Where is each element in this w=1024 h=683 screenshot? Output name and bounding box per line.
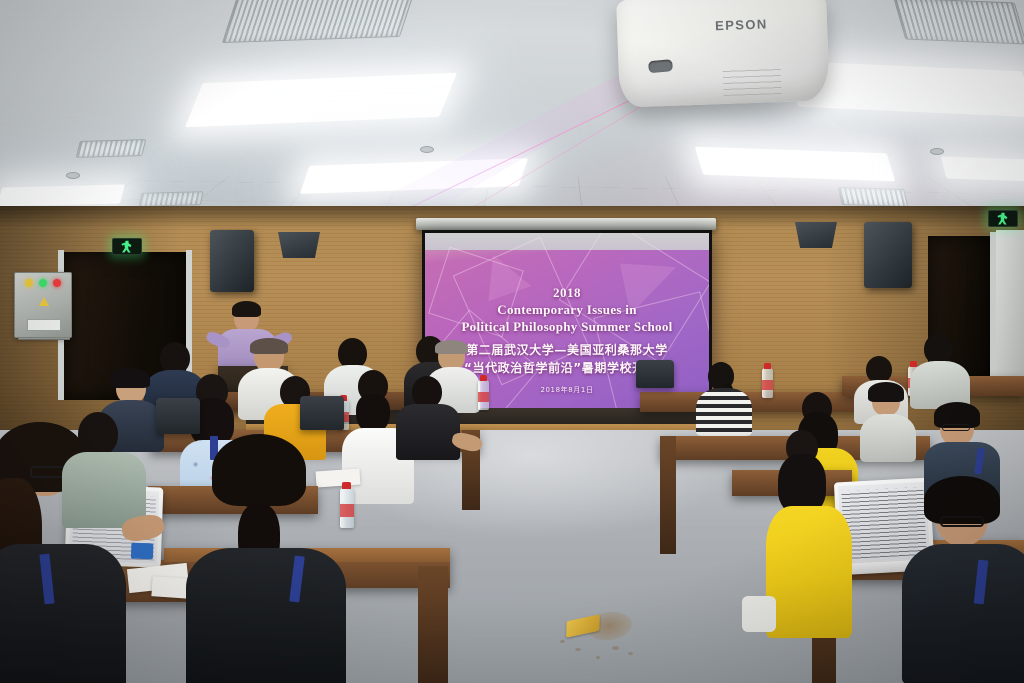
- laptop-screen-badge: [131, 543, 154, 560]
- panel-label: [27, 319, 61, 331]
- bottle-cap: [764, 363, 771, 369]
- running-person-icon: [997, 213, 1010, 225]
- head: [866, 356, 892, 383]
- smoke-detector-icon: [66, 172, 80, 179]
- bottle-label: [478, 392, 489, 402]
- hvac-vent: [76, 139, 147, 158]
- dark-shirt: [902, 544, 1024, 683]
- dark-top: [0, 544, 126, 683]
- ceiling-projector: EPSON: [616, 0, 830, 108]
- floor-spill-drop: [560, 640, 565, 643]
- chair[interactable]: [156, 398, 200, 434]
- wall-speaker: [210, 230, 254, 292]
- ceiling-light-panel: [0, 184, 125, 206]
- head: [78, 412, 118, 456]
- door-panel-right[interactable]: [996, 230, 1024, 392]
- indicator-led-green: [39, 279, 47, 287]
- hvac-vent: [138, 191, 203, 207]
- bottle-cap: [480, 375, 487, 381]
- ceiling: [0, 0, 1024, 232]
- wall-speaker-bracket: [795, 222, 837, 248]
- exit-sign-left: [112, 238, 142, 255]
- dark-top: [186, 548, 346, 683]
- slide-top-band: [425, 233, 709, 250]
- hair: [212, 434, 306, 506]
- hair: [868, 382, 904, 402]
- bottle-cap: [342, 482, 351, 489]
- floor-spill-drop: [612, 646, 619, 650]
- floor-spill-drop: [628, 652, 633, 655]
- hvac-vent: [838, 187, 909, 207]
- hair: [110, 368, 150, 388]
- water-bottle: [762, 368, 773, 398]
- exit-sign-right: [988, 210, 1018, 227]
- long-hair: [778, 454, 826, 514]
- shoe: [742, 596, 776, 632]
- head: [924, 334, 952, 364]
- presenter-hair: [232, 301, 261, 317]
- slide-title-line-2: Political Philosophy Summer School: [425, 319, 709, 335]
- hair: [250, 338, 288, 354]
- laptop-text-lines: [841, 487, 926, 559]
- wall-speaker: [864, 222, 912, 288]
- floor-spill-drop: [596, 656, 600, 659]
- projector-brand-label: EPSON: [715, 16, 768, 33]
- eyeglasses: [940, 516, 984, 527]
- desk-side-panel: [418, 566, 448, 683]
- chair[interactable]: [300, 396, 344, 430]
- shirt: [860, 414, 916, 462]
- smoke-detector-icon: [930, 148, 944, 155]
- grey-hair: [435, 340, 468, 354]
- lecture-hall-photo: EPSON: [0, 0, 1024, 683]
- warning-triangle-icon: [39, 297, 49, 306]
- floor-spill-drop: [575, 648, 581, 651]
- slide-title-line-1: Contemporary Issues in: [425, 302, 709, 318]
- water-bottle: [478, 380, 489, 410]
- smoke-detector-icon: [420, 146, 434, 153]
- slide-year: 2018: [425, 285, 709, 301]
- wall-speaker-bracket: [278, 232, 320, 258]
- projector-vent-grille: [723, 68, 782, 96]
- bottle-label: [340, 504, 354, 517]
- hvac-vent: [893, 0, 1024, 45]
- projection-screen-housing: [416, 218, 716, 230]
- indicator-led-red: [53, 279, 61, 287]
- eyeglasses: [942, 424, 970, 431]
- running-person-icon: [121, 241, 134, 253]
- indicator-led-yellow: [25, 279, 33, 287]
- chair[interactable]: [636, 360, 674, 388]
- paper-sheet: [315, 468, 360, 487]
- hvac-vent: [222, 0, 418, 43]
- yellow-dress: [766, 506, 852, 638]
- striped-shirt: [696, 388, 752, 436]
- desk-side-panel: [660, 436, 676, 554]
- bottle-label: [762, 380, 773, 390]
- electrical-control-panel[interactable]: [14, 272, 72, 338]
- bottle-cap: [910, 361, 917, 367]
- dark-shirt: [396, 404, 460, 460]
- projector-lens: [648, 59, 673, 73]
- water-bottle: [340, 488, 354, 528]
- ceiling-light-panel: [941, 156, 1024, 181]
